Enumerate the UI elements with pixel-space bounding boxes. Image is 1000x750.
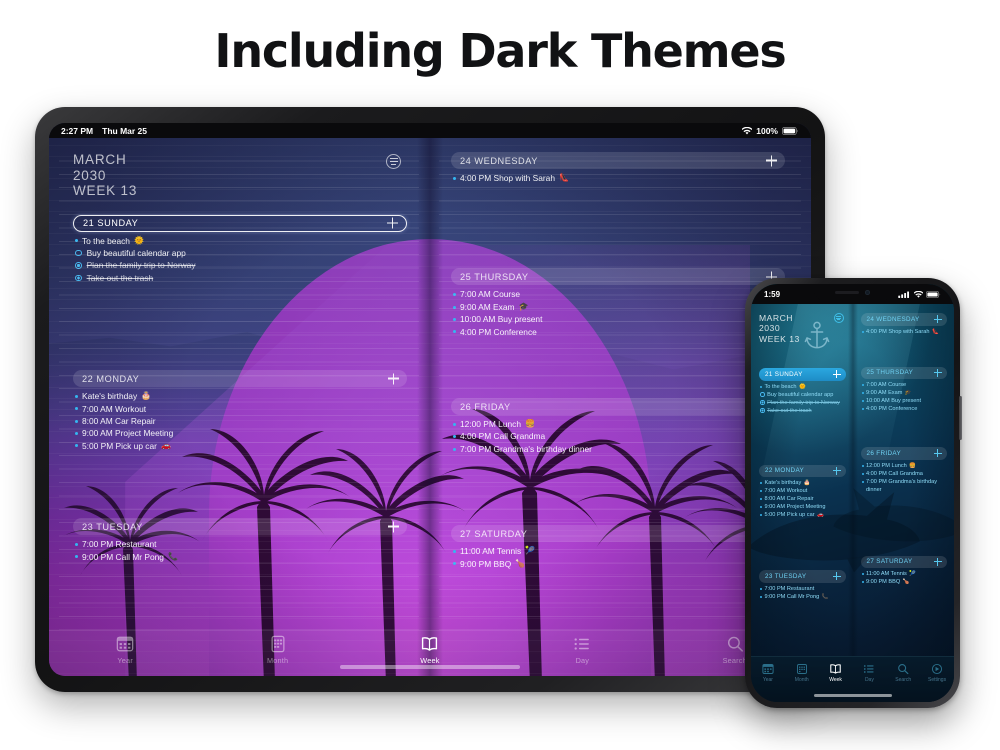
event-item[interactable]: 9:00 PM Call Mr Pong📞 bbox=[760, 593, 846, 601]
day-header-26[interactable]: 26 FRIDAY bbox=[451, 398, 785, 415]
task-item[interactable]: Buy beautiful calendar app bbox=[75, 247, 407, 259]
add-event-button[interactable] bbox=[388, 521, 399, 532]
iphone-left-page: MARCH 2030 WEEK 13 bbox=[751, 304, 853, 656]
event-list-22: Kate's birthday🎂 7:00 AM Workout 8:00 AM… bbox=[73, 387, 407, 452]
iphone-right-page: 24 WEDNESDAY 4:00 PM Shop with Sarah👠 25… bbox=[853, 304, 955, 656]
event-item[interactable]: 5:00 PM Pick up car🚗 bbox=[760, 511, 846, 519]
event-item[interactable]: 4:00 PM Conference bbox=[453, 326, 785, 338]
month-label: MARCH bbox=[73, 152, 407, 168]
book-icon bbox=[829, 663, 842, 675]
tab-label: Day bbox=[576, 656, 590, 665]
event-item[interactable]: 9:00 AM Exam🎓 bbox=[453, 301, 785, 313]
event-item[interactable]: 11:00 AM Tennis🎾 bbox=[862, 570, 948, 578]
month-label: MARCH bbox=[759, 313, 846, 323]
page-title: Including Dark Themes bbox=[0, 24, 1000, 78]
event-item[interactable]: 10:00 AM Buy present bbox=[862, 397, 948, 405]
iphone-tab-day[interactable]: Day bbox=[853, 663, 886, 683]
event-item[interactable]: 9:00 AM Exam🎓 bbox=[862, 389, 948, 397]
event-item[interactable]: 4:00 PM Call Grandma bbox=[453, 430, 785, 442]
iphone-book-fold bbox=[848, 304, 858, 656]
event-item[interactable]: To the beach🌞 bbox=[75, 235, 407, 247]
day-title: 24 WEDNESDAY bbox=[867, 316, 920, 323]
day-title: 24 WEDNESDAY bbox=[460, 156, 538, 166]
tab-label: Settings bbox=[928, 677, 946, 683]
iphone-event-list-21: To the beach🌞 Buy beautiful calendar app… bbox=[759, 381, 846, 415]
event-list-23: 7:00 PM Restaurant 9:00 PM Call Mr Pong📞 bbox=[73, 535, 407, 563]
add-event-button[interactable] bbox=[833, 572, 841, 580]
iphone-home-indicator[interactable] bbox=[814, 694, 892, 697]
iphone-tab-month[interactable]: Month bbox=[785, 663, 818, 683]
settings-icon bbox=[931, 663, 943, 675]
task-item[interactable]: Take out the trash bbox=[760, 407, 846, 415]
add-event-button[interactable] bbox=[766, 155, 777, 166]
event-item[interactable]: 4:00 PM Conference bbox=[862, 405, 948, 413]
tab-day[interactable]: Day bbox=[547, 635, 617, 665]
day-header-23[interactable]: 23 TUESDAY bbox=[73, 518, 407, 535]
menu-circle-icon[interactable] bbox=[386, 154, 401, 169]
battery-full-icon bbox=[926, 291, 941, 298]
iphone-day-header-21[interactable]: 21 SUNDAY bbox=[759, 368, 846, 381]
task-item[interactable]: Buy beautiful calendar app bbox=[760, 391, 846, 399]
tab-label: Month bbox=[267, 656, 288, 665]
event-item[interactable]: 7:00 PM Grandma's birthday dinner bbox=[453, 443, 785, 455]
iphone-day-header-22[interactable]: 22 MONDAY bbox=[759, 465, 846, 478]
day-title: 27 SATURDAY bbox=[867, 558, 913, 565]
event-item[interactable]: 9:00 PM Call Mr Pong📞 bbox=[75, 551, 407, 563]
day-block-26: 26 FRIDAY 12:00 PM Lunch🍔 4:00 PM Call G… bbox=[451, 398, 785, 455]
day-title: 25 THURSDAY bbox=[460, 272, 529, 282]
iphone-day-block-26: 26 FRIDAY 12:00 PM Lunch🍔 4:00 PM Call G… bbox=[861, 447, 948, 494]
event-item[interactable]: 4:00 PM Shop with Sarah👠 bbox=[862, 328, 948, 336]
iphone-tab-week[interactable]: Week bbox=[819, 663, 852, 683]
add-event-button[interactable] bbox=[388, 373, 399, 384]
iphone-event-list-23: 7:00 PM Restaurant 9:00 PM Call Mr Pong📞 bbox=[759, 583, 846, 601]
day-title: 27 SATURDAY bbox=[460, 529, 528, 539]
day-title: 22 MONDAY bbox=[82, 374, 139, 384]
tab-label: Day bbox=[865, 677, 874, 683]
add-event-button[interactable] bbox=[934, 449, 942, 457]
battery-full-icon bbox=[782, 127, 799, 135]
day-header-25[interactable]: 25 THURSDAY bbox=[451, 268, 785, 285]
event-item[interactable]: 9:00 AM Project Meeting bbox=[760, 503, 846, 511]
add-event-button[interactable] bbox=[387, 218, 398, 229]
event-item[interactable]: 11:00 AM Tennis🎾 bbox=[453, 545, 785, 557]
iphone-day-header-23[interactable]: 23 TUESDAY bbox=[759, 570, 846, 583]
add-event-button[interactable] bbox=[833, 370, 841, 378]
event-item[interactable]: 7:00 AM Course bbox=[453, 288, 785, 300]
home-indicator[interactable] bbox=[340, 665, 520, 669]
event-list-27: 11:00 AM Tennis🎾 9:00 PM BBQ🍗 bbox=[451, 542, 785, 570]
task-item[interactable]: Take out the trash bbox=[75, 272, 407, 284]
list-icon bbox=[863, 663, 875, 675]
day-header-24[interactable]: 24 WEDNESDAY bbox=[451, 152, 785, 169]
month-header: MARCH 2030 WEEK 13 bbox=[73, 152, 407, 199]
event-item[interactable]: To the beach🌞 bbox=[760, 383, 846, 391]
event-item[interactable]: 5:00 PM Pick up car🚗 bbox=[75, 440, 407, 452]
event-item[interactable]: 8:00 AM Car Repair bbox=[75, 415, 407, 427]
month-grid-icon bbox=[269, 635, 287, 653]
day-title: 21 SUNDAY bbox=[83, 218, 138, 228]
checkbox-empty-icon bbox=[760, 392, 765, 397]
day-title: 23 TUESDAY bbox=[82, 522, 143, 532]
day-header-22[interactable]: 22 MONDAY bbox=[73, 370, 407, 387]
day-header-27[interactable]: 27 SATURDAY bbox=[451, 525, 785, 542]
event-item[interactable]: 9:00 PM BBQ🍗 bbox=[862, 578, 948, 586]
event-item[interactable]: 12:00 PM Lunch🍔 bbox=[862, 462, 948, 470]
iphone-event-list-25: 7:00 AM Course 9:00 AM Exam🎓 10:00 AM Bu… bbox=[861, 379, 948, 413]
task-item[interactable]: Plan the family trip to Norway bbox=[75, 259, 407, 271]
task-item[interactable]: Plan the family trip to Norway bbox=[760, 399, 846, 407]
ipad-screen: 2:27 PM Thu Mar 25 100% bbox=[49, 123, 811, 676]
checkbox-checked-icon bbox=[760, 400, 765, 405]
event-item[interactable]: 7:00 AM Course bbox=[862, 381, 948, 389]
iphone-device: 1:59 MARCH bbox=[745, 278, 960, 708]
day-block-23: 23 TUESDAY 7:00 PM Restaurant 9:00 PM Ca… bbox=[73, 518, 407, 563]
wifi-icon bbox=[914, 291, 923, 298]
event-list-25: 7:00 AM Course 9:00 AM Exam🎓 10:00 AM Bu… bbox=[451, 285, 785, 338]
iphone-day-header-27[interactable]: 27 SATURDAY bbox=[861, 556, 948, 569]
checkbox-empty-icon bbox=[75, 250, 82, 257]
tab-label: Search bbox=[895, 677, 911, 683]
planner-spread: MARCH 2030 WEEK 13 21 SUNDAY To the beac… bbox=[49, 138, 811, 676]
event-item[interactable]: 7:00 PM Restaurant bbox=[75, 538, 407, 550]
event-item[interactable]: Kate's birthday🎂 bbox=[75, 390, 407, 402]
week-label: WEEK 13 bbox=[759, 334, 846, 344]
event-item[interactable]: Kate's birthday🎂 bbox=[760, 479, 846, 487]
search-icon bbox=[897, 663, 909, 675]
iphone-day-block-24: 24 WEDNESDAY 4:00 PM Shop with Sarah👠 bbox=[861, 313, 948, 336]
menu-circle-icon[interactable] bbox=[834, 313, 844, 323]
event-item[interactable]: 4:00 PM Shop with Sarah👠 bbox=[453, 172, 785, 184]
iphone-day-header-24[interactable]: 24 WEDNESDAY bbox=[861, 313, 948, 326]
year-grid-icon bbox=[116, 635, 134, 653]
status-date: Thu Mar 25 bbox=[102, 126, 147, 136]
status-battery-percent: 100% bbox=[756, 126, 778, 136]
event-list-26: 12:00 PM Lunch🍔 4:00 PM Call Grandma 7:0… bbox=[451, 415, 785, 455]
checkbox-checked-icon bbox=[75, 262, 82, 269]
day-block-21: 21 SUNDAY To the beach🌞 Buy beautiful ca… bbox=[73, 215, 407, 285]
iphone-event-list-24: 4:00 PM Shop with Sarah👠 bbox=[861, 326, 948, 336]
planner-left-page: MARCH 2030 WEEK 13 21 SUNDAY To the beac… bbox=[49, 138, 429, 676]
tab-label: Year bbox=[117, 656, 133, 665]
iphone-event-list-22: Kate's birthday🎂 7:00 AM Workout 8:00 AM… bbox=[759, 477, 846, 519]
list-icon bbox=[573, 635, 591, 653]
event-item[interactable]: 4:00 PM Call Grandma bbox=[862, 470, 948, 478]
book-icon bbox=[420, 635, 439, 653]
day-title: 25 THURSDAY bbox=[867, 369, 914, 376]
ipad-status-bar: 2:27 PM Thu Mar 25 100% bbox=[49, 123, 811, 138]
iphone-event-list-26: 12:00 PM Lunch🍔 4:00 PM Call Grandma 7:0… bbox=[861, 460, 948, 494]
iphone-event-list-27: 11:00 AM Tennis🎾 9:00 PM BBQ🍗 bbox=[861, 568, 948, 586]
event-item[interactable]: 10:00 AM Buy present bbox=[453, 313, 785, 325]
month-grid-icon bbox=[796, 663, 808, 675]
year-label: 2030 bbox=[73, 168, 407, 184]
tab-month[interactable]: Month bbox=[243, 635, 313, 665]
day-block-27: 27 SATURDAY 11:00 AM Tennis🎾 9:00 PM BBQ… bbox=[451, 525, 785, 570]
year-grid-icon bbox=[762, 663, 774, 675]
ipad-device: 2:27 PM Thu Mar 25 100% bbox=[35, 107, 825, 692]
day-block-24: 24 WEDNESDAY 4:00 PM Shop with Sarah👠 bbox=[451, 152, 785, 184]
day-title: 22 MONDAY bbox=[765, 467, 804, 474]
iphone-day-header-26[interactable]: 26 FRIDAY bbox=[861, 447, 948, 460]
tab-label: Year bbox=[763, 677, 773, 683]
day-title: 26 FRIDAY bbox=[460, 402, 511, 412]
tab-week[interactable]: Week bbox=[395, 635, 465, 665]
event-item[interactable]: 9:00 AM Project Meeting bbox=[75, 427, 407, 439]
day-title: 21 SUNDAY bbox=[765, 371, 803, 378]
iphone-day-block-27: 27 SATURDAY 11:00 AM Tennis🎾 9:00 PM BBQ… bbox=[861, 556, 948, 587]
add-event-button[interactable] bbox=[934, 558, 942, 566]
event-item[interactable]: 7:00 AM Workout bbox=[75, 403, 407, 415]
iphone-screen: 1:59 MARCH bbox=[751, 284, 954, 702]
event-item[interactable]: 9:00 PM BBQ🍗 bbox=[453, 558, 785, 570]
day-header-21[interactable]: 21 SUNDAY bbox=[73, 215, 407, 232]
add-event-button[interactable] bbox=[833, 467, 841, 475]
day-block-22: 22 MONDAY Kate's birthday🎂 7:00 AM Worko… bbox=[73, 370, 407, 452]
cellular-icon bbox=[898, 291, 911, 298]
checkbox-checked-icon bbox=[75, 275, 82, 282]
event-list-21: To the beach🌞 Buy beautiful calendar app… bbox=[73, 232, 407, 285]
day-title: 26 FRIDAY bbox=[867, 450, 902, 457]
tab-label: Month bbox=[795, 677, 809, 683]
iphone-day-block-21: 21 SUNDAY To the beach🌞 Buy beautiful ca… bbox=[759, 368, 846, 415]
iphone-day-block-25: 25 THURSDAY 7:00 AM Course 9:00 AM Exam🎓… bbox=[861, 367, 948, 414]
iphone-day-block-22: 22 MONDAY Kate's birthday🎂 7:00 AM Worko… bbox=[759, 465, 846, 520]
event-item[interactable]: 12:00 PM Lunch🍔 bbox=[453, 418, 785, 430]
checkbox-checked-icon bbox=[760, 408, 765, 413]
search-icon bbox=[726, 635, 744, 653]
iphone-day-header-25[interactable]: 25 THURSDAY bbox=[861, 367, 948, 380]
tab-label: Week bbox=[829, 677, 842, 683]
iphone-day-block-23: 23 TUESDAY 7:00 PM Restaurant 9:00 PM Ca… bbox=[759, 570, 846, 601]
wifi-icon bbox=[742, 127, 752, 135]
day-title: 23 TUESDAY bbox=[765, 573, 806, 580]
anchor-icon bbox=[804, 321, 830, 351]
event-item[interactable]: 8:00 AM Car Repair bbox=[760, 495, 846, 503]
status-time: 1:59 bbox=[764, 290, 780, 299]
event-item[interactable]: 7:00 AM Workout bbox=[760, 487, 846, 495]
event-list-24: 4:00 PM Shop with Sarah👠 bbox=[451, 169, 785, 184]
day-block-25: 25 THURSDAY 7:00 AM Course 9:00 AM Exam🎓… bbox=[451, 268, 785, 338]
week-label: WEEK 13 bbox=[73, 183, 407, 199]
tab-label: Week bbox=[420, 656, 439, 665]
notch bbox=[814, 284, 892, 301]
iphone-tab-search[interactable]: Search bbox=[887, 663, 920, 683]
ipad-tab-bar: Year Month Week Day bbox=[49, 630, 811, 676]
tab-year[interactable]: Year bbox=[90, 635, 160, 665]
iphone-tab-settings[interactable]: Settings bbox=[921, 663, 954, 683]
event-item[interactable]: 7:00 PM Restaurant bbox=[760, 585, 846, 593]
add-event-button[interactable] bbox=[934, 369, 942, 377]
tab-label: Search bbox=[723, 656, 747, 665]
iphone-tab-year[interactable]: Year bbox=[751, 663, 784, 683]
year-label: 2030 bbox=[759, 323, 846, 333]
status-time: 2:27 PM bbox=[61, 126, 93, 136]
add-event-button[interactable] bbox=[934, 315, 942, 323]
event-item[interactable]: 7:00 PM Grandma's birthday dinner bbox=[862, 478, 948, 494]
iphone-month-header: MARCH 2030 WEEK 13 bbox=[759, 313, 846, 359]
